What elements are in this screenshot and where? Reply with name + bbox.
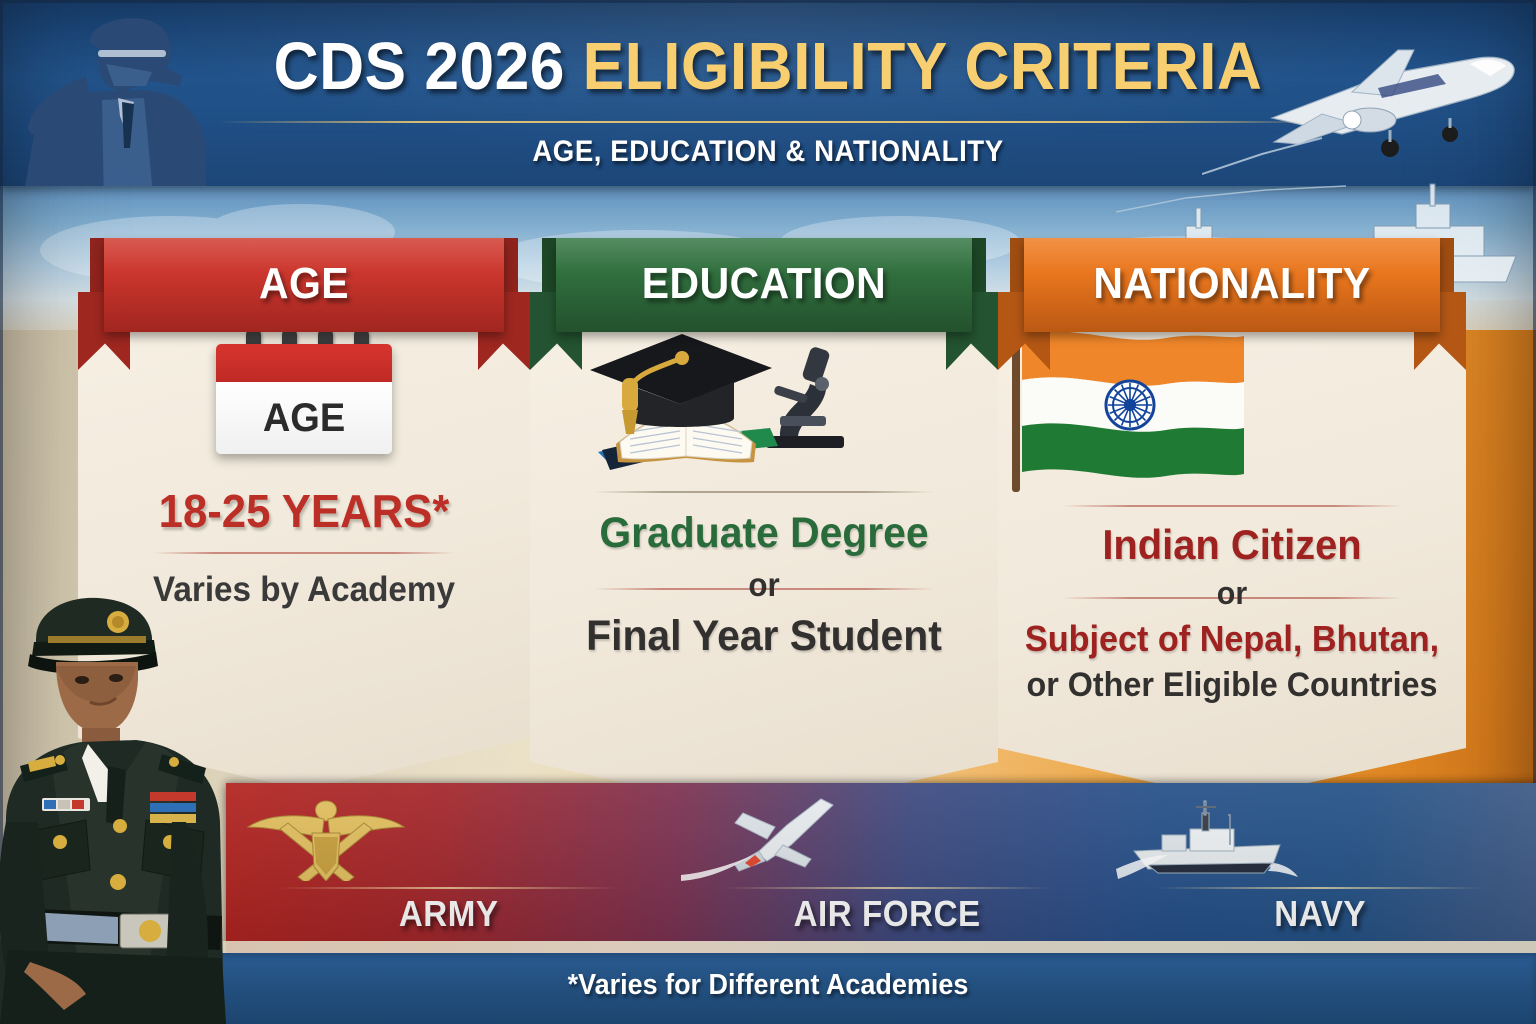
page-title: CDS 2026 ELIGIBILITY CRITERIA	[54, 30, 1482, 104]
card-banner-label-nationality: NATIONALITY	[1014, 250, 1449, 318]
card-banner-label-age: AGE	[94, 250, 514, 318]
card-banner-nationality: NATIONALITY	[998, 232, 1466, 336]
nationality-divider-top	[1062, 505, 1402, 507]
footer-note: *Varies for Different Academies	[54, 969, 1482, 1002]
microscope-icon	[766, 346, 844, 448]
nationality-or-row: or	[998, 575, 1466, 612]
age-primary-value: 18-25 YEARS*	[89, 484, 518, 538]
calendar-header	[216, 344, 392, 382]
service-label-army: ARMY	[244, 893, 654, 935]
nationality-tertiary-value: or Other Eligible Countries	[1010, 666, 1455, 705]
education-divider-top	[594, 491, 934, 493]
nationality-primary-value: Indian Citizen	[1010, 521, 1455, 569]
education-primary-value: Graduate Degree	[542, 509, 987, 558]
calendar-body: AGE	[216, 344, 392, 454]
nationality-secondary-value: Subject of Nepal, Bhutan,	[1010, 618, 1455, 660]
card-banner-label-education: EDUCATION	[546, 250, 981, 318]
education-connector: or	[733, 566, 795, 604]
service-label-navy: NAVY	[1121, 893, 1519, 935]
card-body-age: AGE 18-25 YEARS* Varies by Academy	[78, 328, 530, 610]
card-body-education: Graduate Degree or Final Year Student	[530, 328, 998, 661]
service-divider	[723, 887, 1052, 889]
infographic-canvas: CDS 2026 ELIGIBILITY CRITERIA AGE, EDUCA…	[0, 0, 1536, 1024]
service-item-airforce[interactable]: AIR FORCE	[671, 783, 1103, 953]
army-crest-icon	[226, 793, 426, 881]
service-divider	[279, 887, 618, 889]
title-gold-part: ELIGIBILITY CRITERIA	[583, 29, 1263, 104]
standing-army-officer-illustration	[0, 570, 240, 1024]
services-bar: ARMY AIR FORCE	[226, 783, 1536, 953]
graduation-cap-icon	[590, 334, 772, 434]
card-banner-age: AGE	[78, 232, 530, 336]
header-band: CDS 2026 ELIGIBILITY CRITERIA AGE, EDUCA…	[0, 0, 1536, 186]
education-or-row: or	[530, 566, 998, 604]
calendar-face: AGE	[216, 382, 392, 454]
service-label-airforce: AIR FORCE	[689, 893, 1087, 935]
card-body-nationality: Indian Citizen or Subject of Nepal, Bhut…	[998, 324, 1466, 705]
title-divider	[218, 121, 1318, 123]
nationality-connector: or	[1202, 575, 1263, 612]
fighter-jet-icon	[671, 793, 871, 881]
education-secondary-value: Final Year Student	[542, 612, 987, 661]
warship-icon	[1104, 793, 1304, 881]
title-white-part: CDS 2026	[274, 29, 565, 104]
card-banner-education: EDUCATION	[530, 232, 998, 336]
age-divider	[154, 552, 454, 554]
service-item-army[interactable]: ARMY	[226, 783, 671, 953]
page-subtitle: AGE, EDUCATION & NATIONALITY	[61, 135, 1474, 169]
calendar-icon: AGE	[216, 328, 392, 454]
service-divider	[1156, 887, 1485, 889]
calendar-icon-label: AGE	[220, 382, 387, 454]
service-item-navy[interactable]: NAVY	[1104, 783, 1536, 953]
